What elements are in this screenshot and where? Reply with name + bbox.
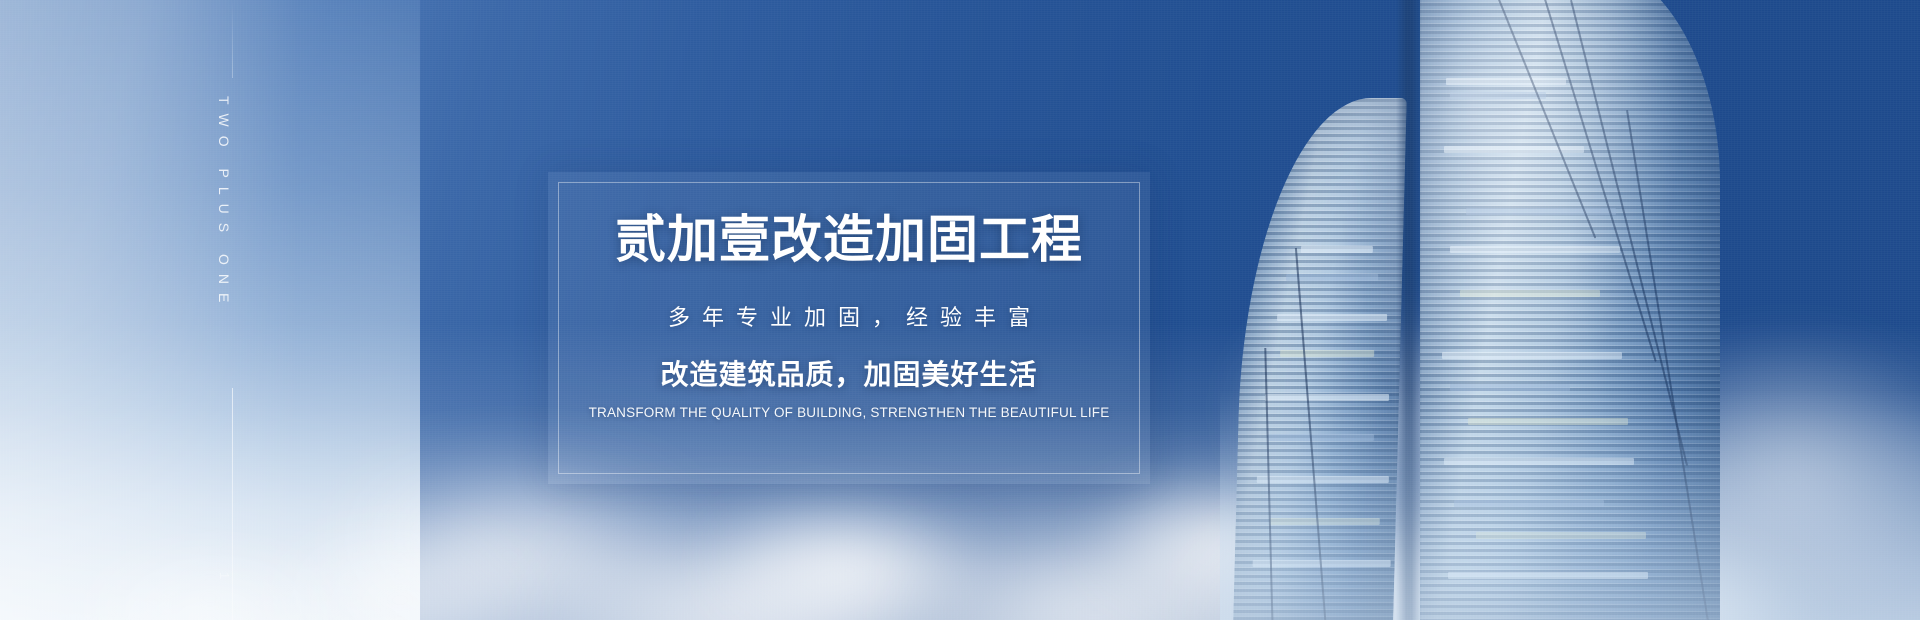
hero-text-panel: 贰加壹改造加固工程 多年专业加固，经验丰富 改造建筑品质，加固美好生活 TRAN… [548, 172, 1150, 484]
window-band [1286, 274, 1378, 281]
brand-rail-line [232, 388, 233, 620]
brand-rail-line-top [232, 0, 233, 78]
headline: 贰加壹改造加固工程 [548, 214, 1150, 265]
window-band [1277, 314, 1387, 321]
brand-vertical-text: TWO PLUS ONE [216, 96, 232, 396]
brand-rail [232, 0, 233, 620]
window-band [1450, 92, 1546, 99]
tagline-english: TRANSFORM THE QUALITY OF BUILDING, STREN… [548, 406, 1150, 420]
facade-mullion [1532, 0, 1657, 362]
subline: 多年专业加固，经验丰富 [548, 307, 1150, 329]
window-band [1444, 146, 1584, 153]
panel-content: 贰加壹改造加固工程 多年专业加固，经验丰富 改造建筑品质，加固美好生活 TRAN… [548, 214, 1150, 420]
window-band [1466, 208, 1616, 215]
window-band [1301, 246, 1373, 253]
tagline-chinese: 改造建筑品质，加固美好生活 [548, 361, 1150, 389]
skyscrapers-illustration [1220, 0, 1920, 620]
brand-corner-mark: 1 [217, 572, 232, 580]
window-band [1450, 246, 1620, 253]
sky-left-edge-highlight [0, 0, 300, 620]
hero-banner: TWO PLUS ONE 1 贰加壹改造加固工程 多年专业加固，经验丰富 改造建… [0, 0, 1920, 620]
window-band [1442, 352, 1622, 359]
facade-mullion [1482, 0, 1596, 239]
window-band [1460, 290, 1600, 297]
window-band [1280, 350, 1374, 357]
window-band [1446, 78, 1566, 85]
tower-atmospheric-haze [1220, 390, 1920, 620]
